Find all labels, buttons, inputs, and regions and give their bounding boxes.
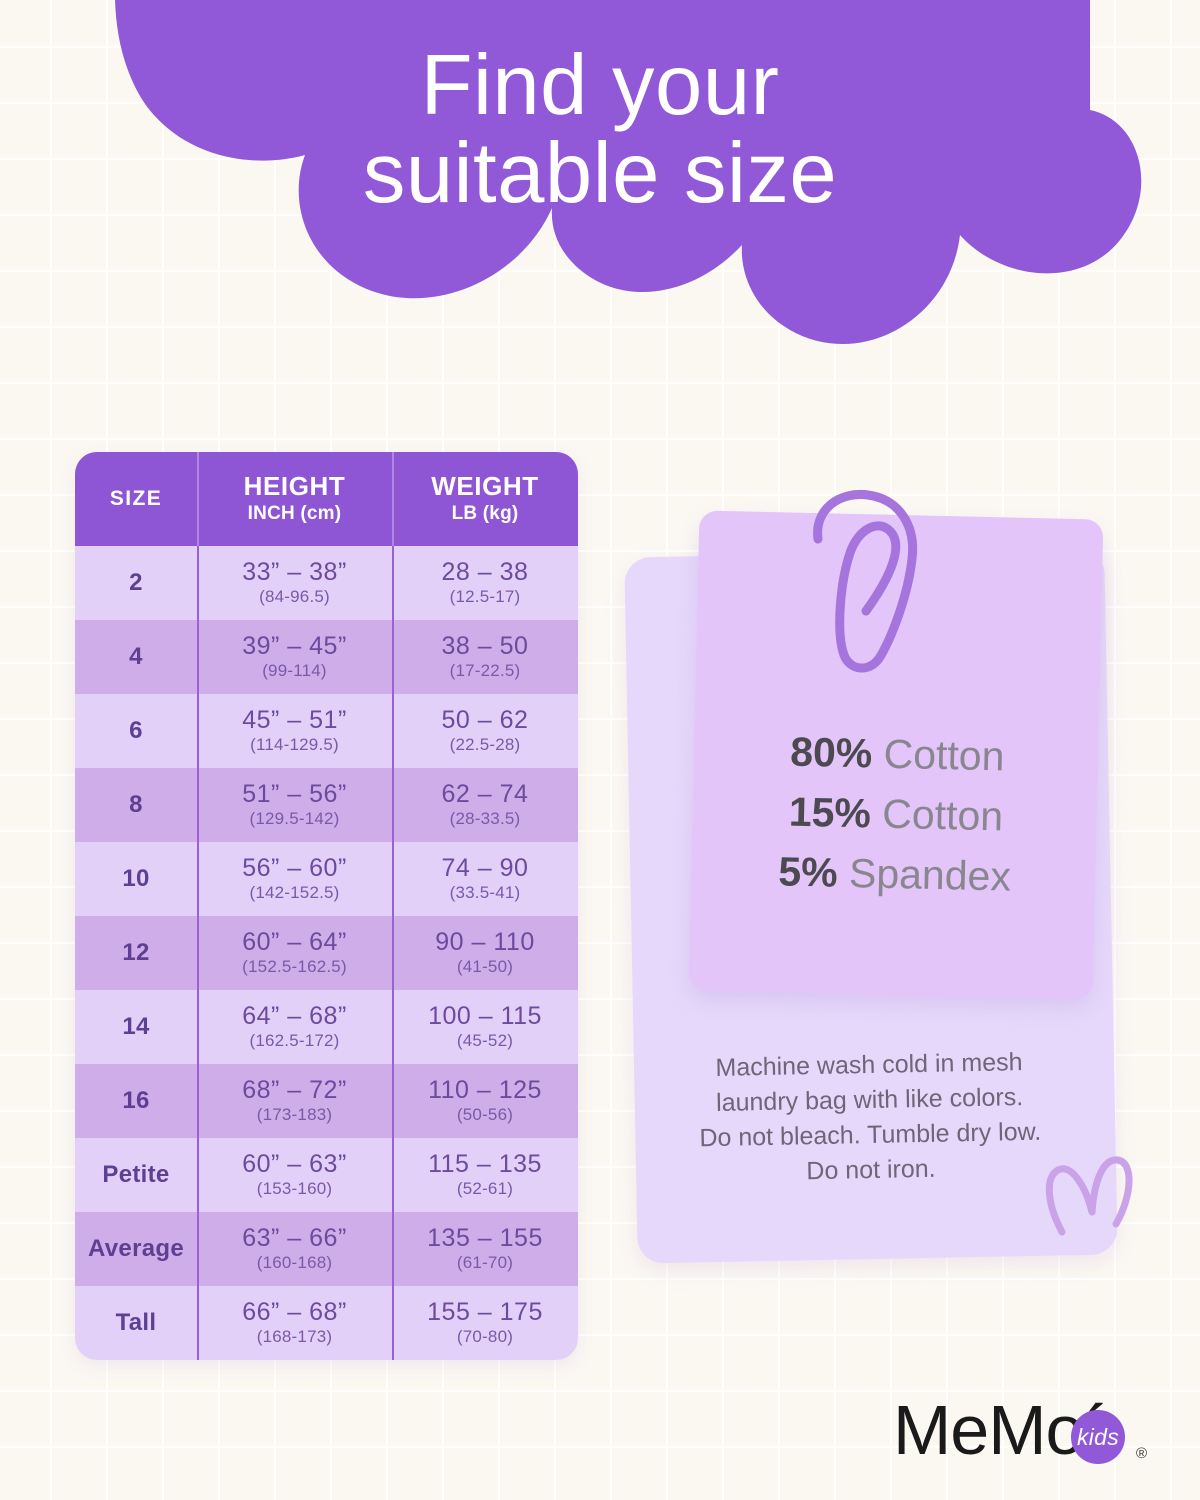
composition-percent: 15% <box>788 788 871 836</box>
height-inch-value: 60” – 63” <box>242 1151 347 1179</box>
cell-weight: 115 – 135(52-61) <box>392 1138 578 1212</box>
height-cm-value: (129.5-142) <box>249 809 339 829</box>
cell-height: 60” – 63”(153-160) <box>197 1138 392 1212</box>
weight-kg-value: (70-80) <box>457 1327 513 1347</box>
registered-trademark-icon: ® <box>1136 1445 1147 1462</box>
height-cm-value: (114-129.5) <box>250 735 339 755</box>
weight-lb-value: 74 – 90 <box>442 855 529 883</box>
size-value: Petite <box>102 1161 169 1189</box>
weight-lb-value: 155 – 175 <box>427 1299 543 1327</box>
height-inch-value: 66” – 68” <box>242 1299 347 1327</box>
cell-height: 33” – 38”(84-96.5) <box>197 546 392 620</box>
infographic-page: Find your suitable size SIZE HEIGHT INCH… <box>0 0 1200 1500</box>
composition-line: 5% Spandex <box>692 840 1097 909</box>
column-header-size-label: SIZE <box>110 487 162 511</box>
weight-lb-value: 62 – 74 <box>442 781 529 809</box>
height-cm-value: (173-183) <box>257 1105 333 1125</box>
table-row: 1668” – 72”(173-183)110 – 125(50-56) <box>75 1064 578 1138</box>
cell-height: 63” – 66”(160-168) <box>197 1212 392 1286</box>
cell-height: 45” – 51”(114-129.5) <box>197 694 392 768</box>
height-cm-value: (99-114) <box>262 661 327 681</box>
logo-kids-badge-label: kids <box>1077 1424 1119 1451</box>
cell-size: 16 <box>75 1064 197 1138</box>
size-value: Tall <box>116 1309 157 1337</box>
cell-weight: 38 – 50(17-22.5) <box>392 620 578 694</box>
cell-size: Tall <box>75 1286 197 1360</box>
weight-kg-value: (61-70) <box>457 1253 513 1273</box>
cell-size: Petite <box>75 1138 197 1212</box>
weight-kg-value: (41-50) <box>457 957 513 977</box>
height-cm-value: (142-152.5) <box>249 883 339 903</box>
height-inch-value: 56” – 60” <box>242 855 347 883</box>
height-inch-value: 63” – 66” <box>242 1225 347 1253</box>
size-value: 10 <box>122 865 149 893</box>
height-inch-value: 64” – 68” <box>242 1003 347 1031</box>
cell-height: 68” – 72”(173-183) <box>197 1064 392 1138</box>
weight-kg-value: (12.5-17) <box>450 587 521 607</box>
cell-weight: 135 – 155(61-70) <box>392 1212 578 1286</box>
weight-kg-value: (33.5-41) <box>450 883 521 903</box>
cell-weight: 28 – 38(12.5-17) <box>392 546 578 620</box>
weight-lb-value: 135 – 155 <box>427 1225 543 1253</box>
table-row: 1260” – 64”(152.5-162.5)90 – 110(41-50) <box>75 916 578 990</box>
weight-kg-value: (28-33.5) <box>450 809 521 829</box>
size-value: 12 <box>122 939 149 967</box>
size-chart-table: SIZE HEIGHT INCH (cm) WEIGHT LB (kg) 233… <box>75 452 578 1360</box>
height-inch-value: 51” – 56” <box>242 781 347 809</box>
cell-height: 51” – 56”(129.5-142) <box>197 768 392 842</box>
brand-logo: MeMoí kids ® <box>893 1393 1163 1479</box>
height-cm-value: (168-173) <box>257 1327 333 1347</box>
weight-lb-value: 115 – 135 <box>428 1151 542 1179</box>
table-row: Petite60” – 63”(153-160)115 – 135(52-61) <box>75 1138 578 1212</box>
cell-weight: 110 – 125(50-56) <box>392 1064 578 1138</box>
table-row: 645” – 51”(114-129.5)50 – 62(22.5-28) <box>75 694 578 768</box>
weight-lb-value: 100 – 115 <box>428 1003 542 1031</box>
composition-material: Spandex <box>837 849 1011 899</box>
cell-size: 8 <box>75 768 197 842</box>
height-inch-value: 68” – 72” <box>242 1077 347 1105</box>
cell-weight: 155 – 175(70-80) <box>392 1286 578 1360</box>
composition-material: Cotton <box>870 790 1003 839</box>
column-header-height: HEIGHT INCH (cm) <box>197 452 392 546</box>
cell-height: 60” – 64”(152.5-162.5) <box>197 916 392 990</box>
composition-percent: 80% <box>790 729 873 777</box>
height-inch-value: 45” – 51” <box>242 707 347 735</box>
weight-kg-value: (22.5-28) <box>450 735 521 755</box>
height-inch-value: 60” – 64” <box>242 929 347 957</box>
height-cm-value: (152.5-162.5) <box>242 957 347 977</box>
table-row: 1464” – 68”(162.5-172)100 – 115(45-52) <box>75 990 578 1064</box>
cell-weight: 90 – 110(41-50) <box>392 916 578 990</box>
weight-lb-value: 90 – 110 <box>435 929 534 957</box>
cell-height: 56” – 60”(142-152.5) <box>197 842 392 916</box>
height-inch-value: 33” – 38” <box>242 559 347 587</box>
table-row: 233” – 38”(84-96.5)28 – 38(12.5-17) <box>75 546 578 620</box>
composition-percent: 5% <box>778 848 838 895</box>
cell-weight: 74 – 90(33.5-41) <box>392 842 578 916</box>
cell-height: 64” – 68”(162.5-172) <box>197 990 392 1064</box>
cell-weight: 62 – 74(28-33.5) <box>392 768 578 842</box>
weight-lb-value: 110 – 125 <box>428 1077 542 1105</box>
cell-size: 14 <box>75 990 197 1064</box>
column-header-weight: WEIGHT LB (kg) <box>392 452 578 546</box>
page-title: Find your suitable size <box>140 42 1060 219</box>
size-value: 4 <box>129 643 143 671</box>
column-header-height-label: HEIGHT <box>244 473 346 500</box>
care-instructions: Machine wash cold in mesh laundry bag wi… <box>639 1044 1102 1193</box>
size-value: 16 <box>122 1087 149 1115</box>
cell-height: 66” – 68”(168-173) <box>197 1286 392 1360</box>
cell-weight: 50 – 62(22.5-28) <box>392 694 578 768</box>
cell-size: 4 <box>75 620 197 694</box>
heart-doodle-icon <box>1040 1148 1145 1253</box>
table-row: 851” – 56”(129.5-142)62 – 74(28-33.5) <box>75 768 578 842</box>
size-value: 14 <box>122 1013 149 1041</box>
height-inch-value: 39” – 45” <box>242 633 347 661</box>
size-value: 8 <box>129 791 143 819</box>
composition-material: Cotton <box>872 730 1005 779</box>
size-value: 6 <box>129 717 143 745</box>
height-cm-value: (160-168) <box>257 1253 333 1273</box>
weight-kg-value: (17-22.5) <box>450 661 521 681</box>
weight-kg-value: (50-56) <box>457 1105 513 1125</box>
cell-size: 12 <box>75 916 197 990</box>
cell-weight: 100 – 115(45-52) <box>392 990 578 1064</box>
column-header-height-units: INCH (cm) <box>248 503 342 525</box>
table-body: 233” – 38”(84-96.5)28 – 38(12.5-17)439” … <box>75 546 578 1360</box>
column-header-size: SIZE <box>75 452 197 546</box>
table-header-row: SIZE HEIGHT INCH (cm) WEIGHT LB (kg) <box>75 452 578 546</box>
cell-size: 2 <box>75 546 197 620</box>
weight-lb-value: 38 – 50 <box>442 633 529 661</box>
height-cm-value: (153-160) <box>257 1179 333 1199</box>
weight-lb-value: 28 – 38 <box>442 559 529 587</box>
table-row: Average63” – 66”(160-168)135 – 155(61-70… <box>75 1212 578 1286</box>
table-row: Tall66” – 68”(168-173)155 – 175(70-80) <box>75 1286 578 1360</box>
column-header-weight-units: LB (kg) <box>452 503 519 525</box>
cell-size: 10 <box>75 842 197 916</box>
weight-kg-value: (52-61) <box>457 1179 513 1199</box>
paperclip-icon <box>800 487 950 677</box>
table-row: 439” – 45”(99-114)38 – 50(17-22.5) <box>75 620 578 694</box>
composition-line: 15% Cotton <box>693 780 1098 849</box>
column-header-weight-label: WEIGHT <box>431 473 539 500</box>
cell-height: 39” – 45”(99-114) <box>197 620 392 694</box>
composition-line: 80% Cotton <box>695 720 1100 789</box>
height-cm-value: (162.5-172) <box>249 1031 339 1051</box>
size-value: 2 <box>129 569 143 597</box>
logo-wordmark: MeMoí <box>893 1395 1102 1465</box>
cell-size: Average <box>75 1212 197 1286</box>
logo-kids-badge: kids <box>1071 1410 1125 1464</box>
height-cm-value: (84-96.5) <box>259 587 330 607</box>
size-value: Average <box>88 1235 184 1263</box>
fabric-composition-list: 80% Cotton15% Cotton5% Spandex <box>692 720 1100 909</box>
cell-size: 6 <box>75 694 197 768</box>
table-row: 1056” – 60”(142-152.5)74 – 90(33.5-41) <box>75 842 578 916</box>
weight-lb-value: 50 – 62 <box>442 707 529 735</box>
weight-kg-value: (45-52) <box>457 1031 513 1051</box>
